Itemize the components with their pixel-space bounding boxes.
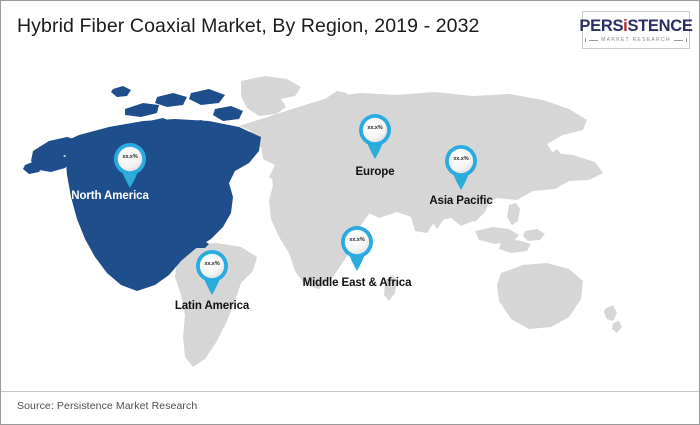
- source-text: Source: Persistence Market Research: [17, 400, 197, 412]
- logo-wordmark: PERSiSTENCE: [579, 18, 692, 35]
- region-label-middle-east-africa: Middle East & Africa: [292, 277, 422, 290]
- map-pin-middle-east-africa[interactable]: xx.x%: [340, 225, 374, 271]
- pin-shape-north-america: [113, 142, 147, 188]
- logo-subtitle-row: MARKET RESEARCH: [585, 37, 687, 43]
- header: Hybrid Fiber Coaxial Market, By Region, …: [1, 1, 700, 59]
- page-title: Hybrid Fiber Coaxial Market, By Region, …: [17, 15, 479, 38]
- logo-tick-left: [585, 38, 586, 42]
- region-label-europe: Europe: [345, 166, 405, 179]
- region-label-latin-america: Latin America: [167, 300, 257, 313]
- logo-tick-right: [686, 38, 687, 42]
- map-pin-asia-pacific[interactable]: xx.x%: [444, 144, 478, 190]
- pin-shape-asia-pacific: [444, 144, 478, 190]
- pin-shape-latin-america: [195, 249, 229, 295]
- map-pin-europe[interactable]: xx.x%: [358, 113, 392, 159]
- logo-rule-left: [589, 40, 598, 41]
- persistence-logo: PERSiSTENCE MARKET RESEARCH: [582, 11, 690, 49]
- region-label-asia-pacific: Asia Pacific: [419, 195, 503, 208]
- logo-word-part2: STENCE: [627, 17, 692, 35]
- world-map-area: xx.x% North America xx.x% Latin America: [1, 59, 700, 391]
- footer-divider: [1, 391, 700, 392]
- pin-shape-europe: [358, 113, 392, 159]
- logo-word-part1: PERS: [579, 17, 623, 35]
- logo-rule-right: [674, 40, 683, 41]
- pin-shape-middle-east-africa: [340, 225, 374, 271]
- region-label-north-america: North America: [70, 190, 150, 203]
- map-pin-north-america[interactable]: xx.x%: [113, 142, 147, 188]
- logo-subtitle: MARKET RESEARCH: [601, 37, 671, 43]
- map-pin-latin-america[interactable]: xx.x%: [195, 249, 229, 295]
- infographic-frame: Hybrid Fiber Coaxial Market, By Region, …: [0, 0, 700, 425]
